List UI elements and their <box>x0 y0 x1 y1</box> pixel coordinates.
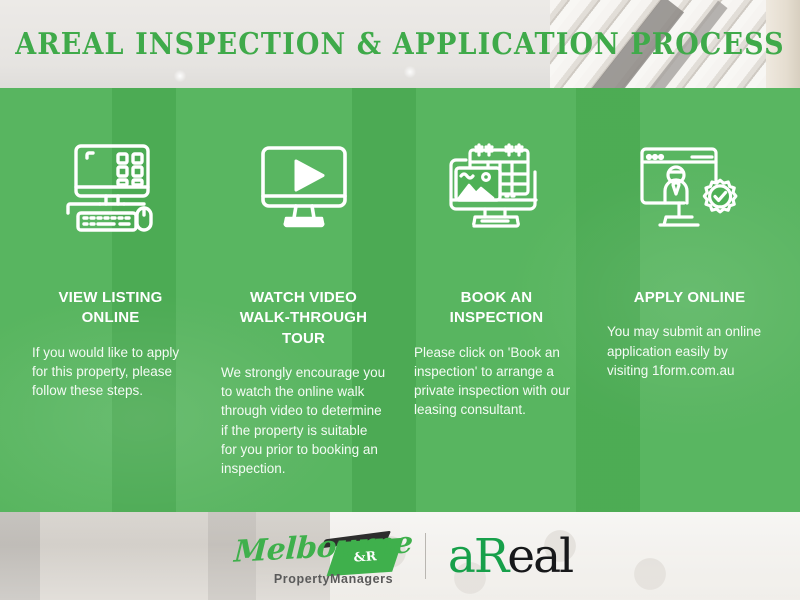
step-title: APPLY ONLINE <box>607 288 772 308</box>
step-body: If you would like to apply for this prop… <box>28 343 193 401</box>
step-card-view-listing: VIEW LISTING ONLINE If you would like to… <box>14 88 207 512</box>
step-body: You may submit an online application eas… <box>607 322 772 380</box>
areal-logo-prefix: aR <box>448 529 507 584</box>
melbourne-property-managers-logo: &R Melbourne PropertyManagers <box>228 526 403 586</box>
step-title: VIEW LISTING ONLINE <box>28 288 193 329</box>
step-card-watch-video: WATCH VIDEO WALK-THROUGH TOUR We strongl… <box>207 88 400 512</box>
title-bar: AREAL INSPECTION & APPLICATION PROCESS <box>0 0 800 88</box>
video-play-monitor-icon <box>221 88 386 288</box>
calendar-photo-monitor-icon <box>414 88 579 288</box>
property-managers-subtitle: PropertyManagers <box>274 572 393 586</box>
areal-logo-suffix: eal <box>507 529 572 584</box>
step-title: BOOK AN INSPECTION <box>414 288 579 329</box>
online-application-gear-icon <box>607 88 772 288</box>
step-body: Please click on 'Book an inspection' to … <box>414 343 579 420</box>
desktop-listing-icon <box>28 88 193 288</box>
step-body: We strongly encourage you to watch the o… <box>221 363 386 479</box>
step-card-book-inspection: BOOK AN INSPECTION Please click on 'Book… <box>400 88 593 512</box>
logo-divider <box>425 533 426 579</box>
steps-row: VIEW LISTING ONLINE If you would like to… <box>0 88 800 512</box>
areal-logo: aReal <box>448 533 572 580</box>
step-title: WATCH VIDEO WALK-THROUGH TOUR <box>221 288 386 349</box>
step-card-apply-online: APPLY ONLINE You may submit an online ap… <box>593 88 786 512</box>
footer-logos: &R Melbourne PropertyManagers aReal <box>0 512 800 600</box>
page-title: AREAL INSPECTION & APPLICATION PROCESS <box>15 27 785 62</box>
